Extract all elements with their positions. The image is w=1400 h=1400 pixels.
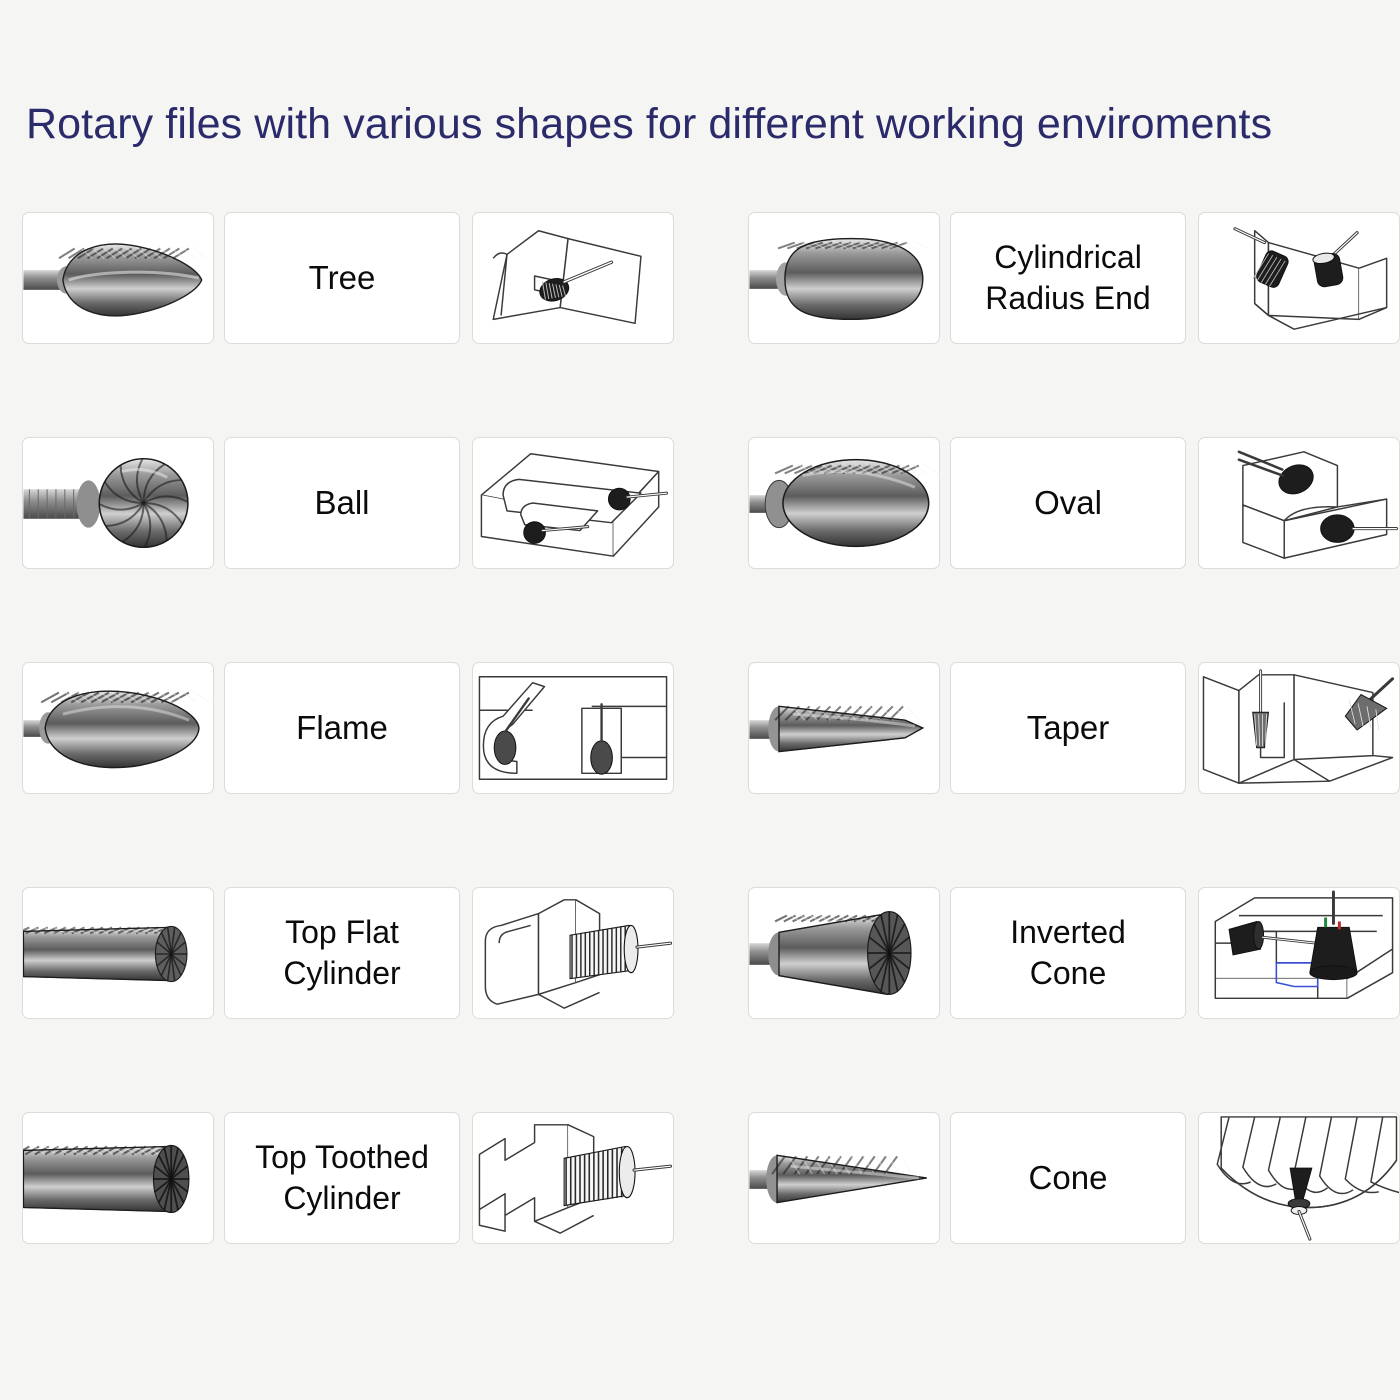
cylindrical-radius-end-rotary-burr-photo (749, 213, 939, 343)
shape-row: Top FlatCylinder (0, 887, 1400, 1019)
shape-label-line: Cone (1029, 1159, 1108, 1196)
usage-illustration-card-top-flat-cylinder[interactable] (472, 887, 674, 1019)
shape-name-card-ball[interactable]: Ball (224, 437, 460, 569)
product-photo-card-inverted-cone[interactable] (748, 887, 940, 1019)
cone-shape-rotary-burr-photo (749, 1113, 939, 1243)
product-photo-card-flame[interactable] (22, 662, 214, 794)
shape-name-ball: Ball (225, 482, 459, 524)
shape-row: Flame (0, 662, 1400, 794)
shape-entry-inverted-cone[interactable]: InvertedCone (748, 887, 1400, 1019)
top-flat-cylinder-rotary-burr-photo (23, 888, 213, 1018)
usage-illustration-card-flame[interactable] (472, 662, 674, 794)
product-photo-card-oval[interactable] (748, 437, 940, 569)
shape-entry-taper[interactable]: Taper (748, 662, 1400, 794)
shape-label-line: Inverted (1010, 914, 1126, 950)
ball-burr-pocket-corner-illustration (473, 438, 673, 568)
shape-entry-cone[interactable]: Cone (748, 1112, 1400, 1244)
flame-shape-rotary-burr-photo (23, 663, 213, 793)
shape-label-line: Cylindrical (994, 239, 1142, 275)
flame-burr-narrow-channel-illustration (473, 663, 673, 793)
shape-row: Ball (0, 437, 1400, 569)
shape-entry-tree[interactable]: Tree (22, 212, 674, 344)
usage-illustration-card-ball[interactable] (472, 437, 674, 569)
product-photo-card-top-toothed-cylinder[interactable] (22, 1112, 214, 1244)
top-toothed-cylinder-rotary-burr-photo (23, 1113, 213, 1243)
ball-shape-rotary-burr-photo (23, 438, 213, 568)
shape-name-card-cone[interactable]: Cone (950, 1112, 1186, 1244)
shape-label-line: Flame (296, 709, 388, 746)
oval-shape-rotary-burr-photo (749, 438, 939, 568)
taper-burr-angled-surface-illustration (1199, 663, 1399, 793)
shape-label-line: Top Toothed (255, 1139, 429, 1175)
shape-name-cone: Cone (951, 1157, 1185, 1199)
shape-label-line: Oval (1034, 484, 1102, 521)
shape-label-line: Cylinder (283, 1180, 400, 1216)
shape-name-taper: Taper (951, 707, 1185, 749)
shape-name-top-toothed-cylinder: Top ToothedCylinder (225, 1137, 459, 1219)
shape-label-line: Cylinder (283, 955, 400, 991)
shape-entry-top-toothed-cylinder[interactable]: Top ToothedCylinder (22, 1112, 674, 1244)
shape-name-card-inverted-cone[interactable]: InvertedCone (950, 887, 1186, 1019)
shape-name-inverted-cone: InvertedCone (951, 912, 1185, 994)
shape-label-line: Ball (314, 484, 369, 521)
usage-illustration-card-oval[interactable] (1198, 437, 1400, 569)
shape-entry-ball[interactable]: Ball (22, 437, 674, 569)
product-photo-card-cone[interactable] (748, 1112, 940, 1244)
shape-label-line: Top Flat (285, 914, 399, 950)
shape-name-tree: Tree (225, 257, 459, 299)
usage-illustration-card-inverted-cone[interactable] (1198, 887, 1400, 1019)
shape-name-card-tree[interactable]: Tree (224, 212, 460, 344)
shape-name-card-taper[interactable]: Taper (950, 662, 1186, 794)
shape-name-cylindrical-radius-end: CylindricalRadius End (951, 237, 1185, 319)
shape-entry-top-flat-cylinder[interactable]: Top FlatCylinder (22, 887, 674, 1019)
usage-illustration-card-tree[interactable] (472, 212, 674, 344)
top-toothed-cylinder-burr-step-illustration (473, 1113, 673, 1243)
page-title: Rotary files with various shapes for dif… (26, 101, 1272, 148)
cylindrical-radius-end-burr-edge-work-illustration (1199, 213, 1399, 343)
shape-name-card-flame[interactable]: Flame (224, 662, 460, 794)
shape-entry-flame[interactable]: Flame (22, 662, 674, 794)
shape-row: Top ToothedCylinder (0, 1112, 1400, 1244)
shape-name-oval: Oval (951, 482, 1185, 524)
inverted-cone-burr-undercut-illustration (1199, 888, 1399, 1018)
shape-row: Tree (0, 212, 1400, 344)
oval-burr-groove-illustration (1199, 438, 1399, 568)
shape-label-line: Tree (309, 259, 376, 296)
tree-shape-rotary-burr-photo (23, 213, 213, 343)
product-photo-card-taper[interactable] (748, 662, 940, 794)
shape-label-line: Taper (1027, 709, 1110, 746)
taper-shape-rotary-burr-photo (749, 663, 939, 793)
shape-name-card-oval[interactable]: Oval (950, 437, 1186, 569)
product-photo-card-ball[interactable] (22, 437, 214, 569)
product-photo-card-cylindrical-radius-end[interactable] (748, 212, 940, 344)
product-photo-card-tree[interactable] (22, 212, 214, 344)
shape-name-card-top-toothed-cylinder[interactable]: Top ToothedCylinder (224, 1112, 460, 1244)
usage-illustration-card-top-toothed-cylinder[interactable] (472, 1112, 674, 1244)
usage-illustration-card-cone[interactable] (1198, 1112, 1400, 1244)
inverted-cone-rotary-burr-photo (749, 888, 939, 1018)
tree-burr-machining-slot-illustration (473, 213, 673, 343)
shape-label-line: Radius End (985, 280, 1150, 316)
cone-burr-chamfer-illustration (1199, 1113, 1399, 1243)
shape-label-line: Cone (1030, 955, 1107, 991)
shape-entry-oval[interactable]: Oval (748, 437, 1400, 569)
shape-entry-cylindrical-radius-end[interactable]: CylindricalRadius End (748, 212, 1400, 344)
shape-name-flame: Flame (225, 707, 459, 749)
usage-illustration-card-cylindrical-radius-end[interactable] (1198, 212, 1400, 344)
usage-illustration-card-taper[interactable] (1198, 662, 1400, 794)
shape-name-card-cylindrical-radius-end[interactable]: CylindricalRadius End (950, 212, 1186, 344)
product-photo-card-top-flat-cylinder[interactable] (22, 887, 214, 1019)
shape-grid: Tree (0, 212, 1400, 1244)
shape-name-top-flat-cylinder: Top FlatCylinder (225, 912, 459, 994)
top-flat-cylinder-burr-flat-face-illustration (473, 888, 673, 1018)
shape-name-card-top-flat-cylinder[interactable]: Top FlatCylinder (224, 887, 460, 1019)
